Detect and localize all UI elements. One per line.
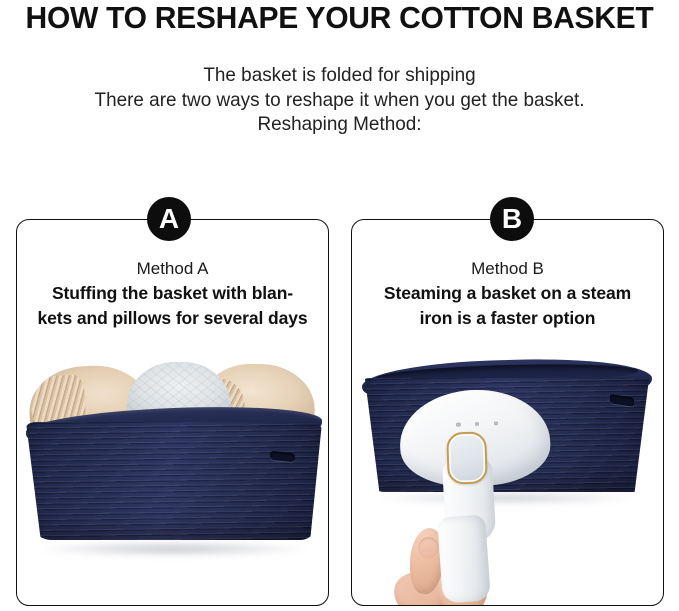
page-title: HOW TO RESHAPE YOUR COTTON BASKET [5, 0, 674, 36]
steamer-indicator-lights [456, 419, 498, 428]
subtitle-line-2: There are two ways to reshape it when yo… [10, 88, 669, 113]
method-card-a: Method A Stuffing the basket with blan- … [16, 219, 329, 606]
basket-a-shadow [38, 541, 308, 557]
steamer-led-3 [493, 421, 498, 426]
steamer-grip [437, 514, 491, 603]
navy-rope-basket-a [26, 408, 322, 548]
steamer-power-button[interactable] [446, 431, 488, 484]
basket-a-body [26, 422, 322, 540]
subtitle-line-1: The basket is folded for shipping [10, 63, 669, 88]
basket-with-blankets-scene [17, 360, 328, 560]
method-card-b: Method B Steaming a basket on a steam ir… [351, 219, 664, 606]
basket-with-steamer-scene [352, 352, 663, 605]
subtitle-block: The basket is folded for shipping There … [0, 63, 679, 137]
method-b-illustration [352, 220, 663, 605]
method-a-illustration [17, 220, 328, 605]
method-badge-b: B [490, 197, 534, 241]
subtitle-line-3: Reshaping Method: [10, 112, 669, 137]
handheld-garment-steamer [400, 390, 550, 605]
method-badge-a: A [147, 197, 191, 241]
steamer-led-2 [475, 422, 480, 427]
steamer-led-1 [456, 422, 461, 427]
method-cards: Method A Stuffing the basket with blan- … [0, 219, 679, 611]
